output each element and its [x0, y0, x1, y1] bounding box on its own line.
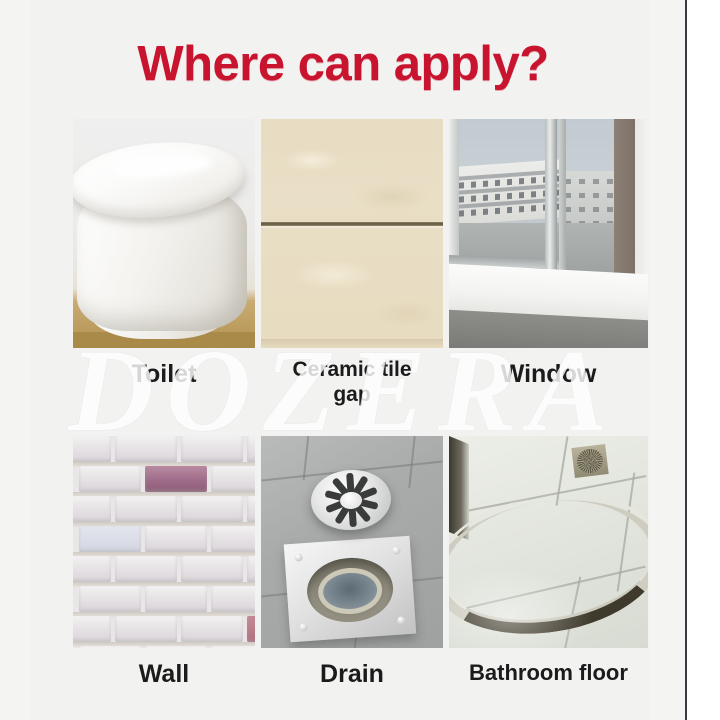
toilet-photo	[73, 119, 255, 348]
poster-root: Where can apply? DOZERA	[0, 0, 720, 720]
window-photo	[449, 119, 648, 348]
grid-item-wall[interactable]: Wall	[73, 436, 255, 690]
application-grid: Toilet Ceramic tile gap	[73, 119, 648, 689]
caption-line-1: Ceramic tile	[261, 358, 443, 383]
grid-item-toilet[interactable]: Toilet	[73, 119, 255, 390]
row-spacer	[73, 408, 648, 436]
floor-drain-photo	[261, 436, 443, 648]
bathroom-floor-photo	[449, 436, 648, 648]
grid-item-ceramic-tile-gap[interactable]: Ceramic tile gap	[261, 119, 443, 408]
grid-item-drain[interactable]: Drain	[261, 436, 443, 690]
brick-wall-photo	[73, 436, 255, 648]
right-white-margin	[687, 0, 720, 720]
grid-row-2: Wall	[73, 436, 648, 690]
grid-item-bathroom-floor[interactable]: Bathroom floor	[449, 436, 648, 686]
caption-wall: Wall	[73, 660, 255, 690]
grid-row-1: Toilet Ceramic tile gap	[73, 119, 648, 408]
caption-window: Window	[449, 360, 648, 390]
caption-toilet: Toilet	[73, 360, 255, 390]
caption-drain: Drain	[261, 660, 443, 690]
page-title: Where can apply?	[0, 36, 686, 92]
caption-line-2: gap	[261, 383, 443, 408]
grid-item-window[interactable]: Window	[449, 119, 648, 390]
ceramic-tile-gap-photo	[261, 119, 443, 348]
caption-bathroom-floor: Bathroom floor	[449, 660, 648, 686]
poster-canvas: Where can apply? DOZERA	[0, 0, 686, 720]
caption-ceramic-tile-gap: Ceramic tile gap	[261, 358, 443, 408]
